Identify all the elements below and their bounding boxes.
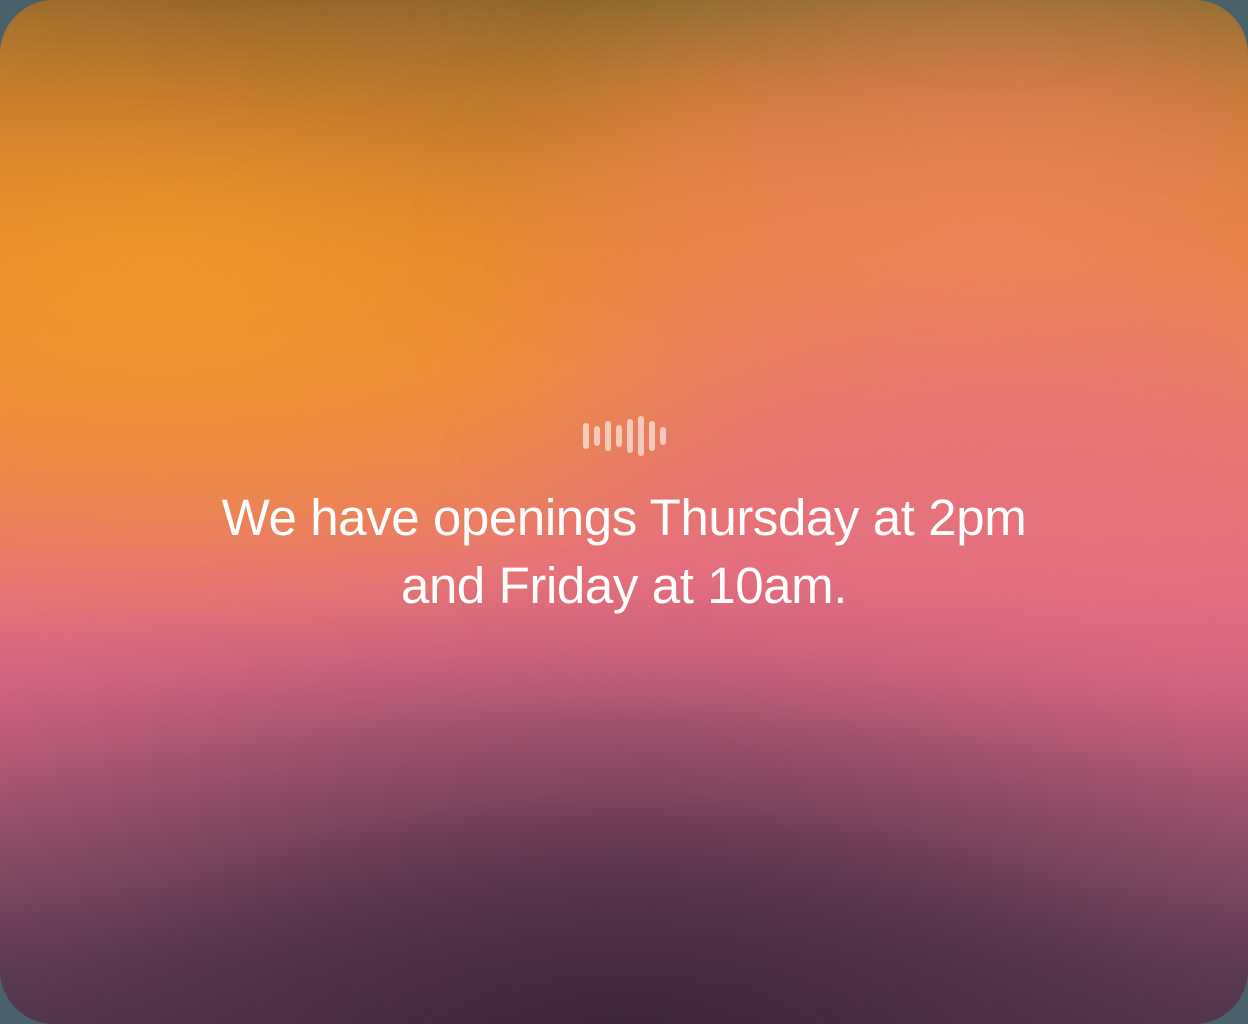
voice-assistant-screen: We have openings Thursday at 2pm and Fri… [0, 0, 1248, 1024]
waveform-bar [605, 421, 611, 451]
waveform-bar [594, 426, 600, 446]
waveform-bar [583, 423, 589, 449]
waveform-bar [649, 421, 655, 451]
assistant-response-text: We have openings Thursday at 2pm and Fri… [194, 484, 1054, 620]
waveform-bar [627, 419, 633, 453]
content-layer: We have openings Thursday at 2pm and Fri… [0, 0, 1248, 1024]
waveform-bar [638, 416, 644, 456]
waveform-bar [616, 425, 622, 447]
waveform-bar [660, 427, 666, 445]
voice-waveform-icon [583, 414, 666, 458]
